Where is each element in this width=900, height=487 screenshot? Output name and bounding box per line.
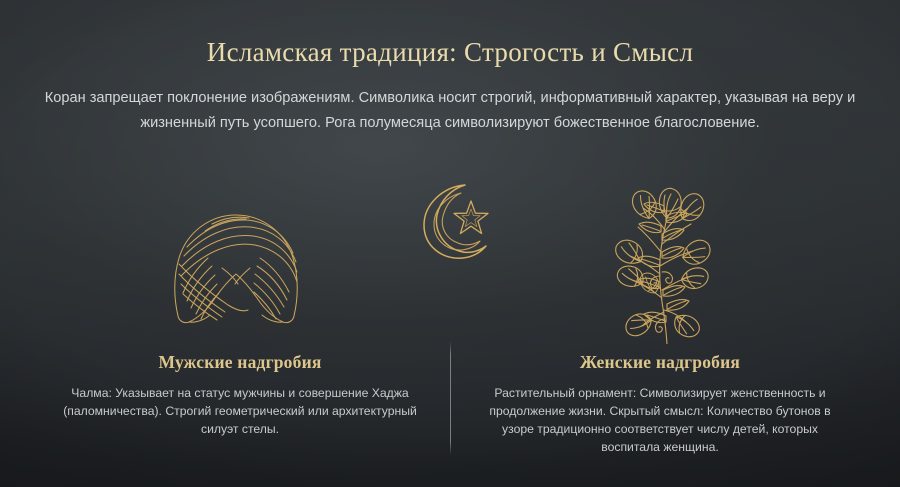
column-heading-female: Женские надгробия — [462, 352, 858, 373]
floral-branch-icon — [594, 186, 740, 344]
slide-root: Исламская традиция: Строгость и Смысл Ко… — [0, 0, 900, 487]
crescent-star-icon — [409, 180, 493, 262]
column-divider — [450, 341, 451, 455]
turban-icon — [160, 206, 312, 331]
column-body-female: Растительный орнамент: Символизирует жен… — [474, 384, 846, 456]
column-heading-male: Мужские надгробия — [42, 352, 438, 373]
column-female-gravestones: Женские надгробия Растительный орнамент:… — [462, 352, 858, 456]
column-body-male: Чалма: Указывает на статус мужчины и сов… — [60, 384, 420, 438]
page-title: Исламская традиция: Строгость и Смысл — [0, 37, 900, 68]
column-male-gravestones: Мужские надгробия Чалма: Указывает на ст… — [42, 352, 438, 438]
intro-paragraph: Коран запрещает поклонение изображениям.… — [35, 86, 865, 136]
